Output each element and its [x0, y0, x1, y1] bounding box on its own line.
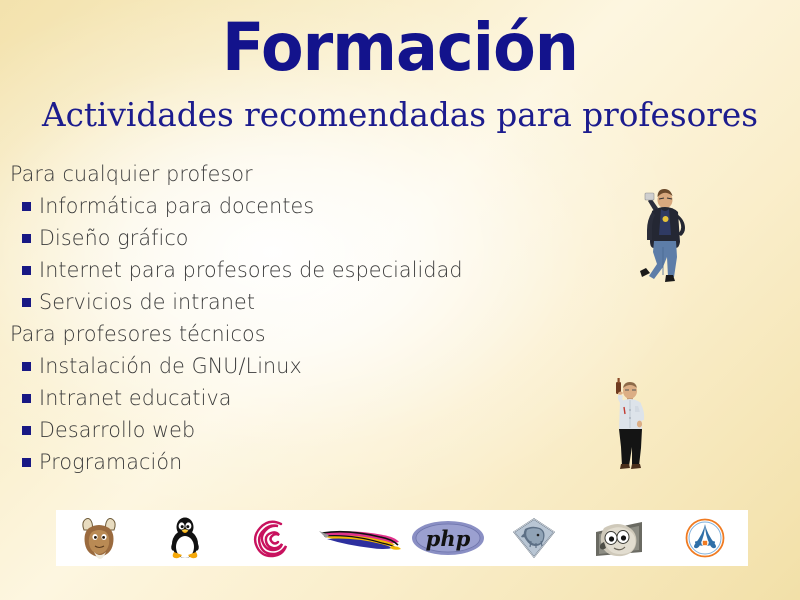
- list-item-label: Instalación de GNU/Linux: [39, 354, 302, 378]
- square-bullet-icon: [22, 202, 31, 211]
- apache-logo: [313, 510, 405, 566]
- slide-subtitle: Actividades recomendadas para profesores: [4, 94, 796, 136]
- list-item-label: Informática para docentes: [39, 194, 314, 218]
- square-bullet-icon: [22, 394, 31, 403]
- logo-strip: php: [56, 510, 748, 566]
- mandrake-logo: [662, 510, 748, 566]
- list-item: Servicios de intranet: [6, 286, 566, 318]
- postgresql-logo: [491, 510, 577, 566]
- debian-logo: [227, 510, 313, 566]
- group-heading: Para profesores técnicos: [6, 318, 566, 350]
- list-item: Desarrollo web: [6, 414, 566, 446]
- square-bullet-icon: [22, 426, 31, 435]
- list-item-label: Desarrollo web: [39, 418, 195, 442]
- square-bullet-icon: [22, 458, 31, 467]
- list-item: Informática para docentes: [6, 190, 566, 222]
- group-heading: Para cualquier profesor: [6, 158, 566, 190]
- gimp-logo: [577, 510, 663, 566]
- linux-tux-logo: [142, 510, 228, 566]
- list-item: Internet para profesores de especialidad: [6, 254, 566, 286]
- list-item: Programación: [6, 446, 566, 478]
- list-item: Diseño gráfico: [6, 222, 566, 254]
- photo-man-standing-shirt: [596, 374, 666, 474]
- list-item-label: Intranet educativa: [39, 386, 232, 410]
- slide-title: Formación: [24, 8, 776, 88]
- list-item-label: Diseño gráfico: [39, 226, 189, 250]
- list-item-label: Internet para profesores de especialidad: [39, 258, 463, 282]
- list-item-label: Servicios de intranet: [39, 290, 255, 314]
- square-bullet-icon: [22, 266, 31, 275]
- presentation-slide: Formación Actividades recomendadas para …: [0, 0, 800, 600]
- square-bullet-icon: [22, 298, 31, 307]
- square-bullet-icon: [22, 234, 31, 243]
- group-heading-label: Para profesores técnicos: [10, 322, 266, 346]
- svg-text:php: php: [426, 526, 471, 551]
- gnu-logo: [56, 510, 142, 566]
- group-heading-label: Para cualquier profesor: [10, 162, 253, 186]
- photo-man-standing-jacket: [618, 175, 698, 285]
- php-logo: php: [405, 510, 491, 566]
- list-item-label: Programación: [39, 450, 182, 474]
- content-list: Para cualquier profesor Informática para…: [6, 158, 566, 478]
- square-bullet-icon: [22, 362, 31, 371]
- list-item: Instalación de GNU/Linux: [6, 350, 566, 382]
- list-item: Intranet educativa: [6, 382, 566, 414]
